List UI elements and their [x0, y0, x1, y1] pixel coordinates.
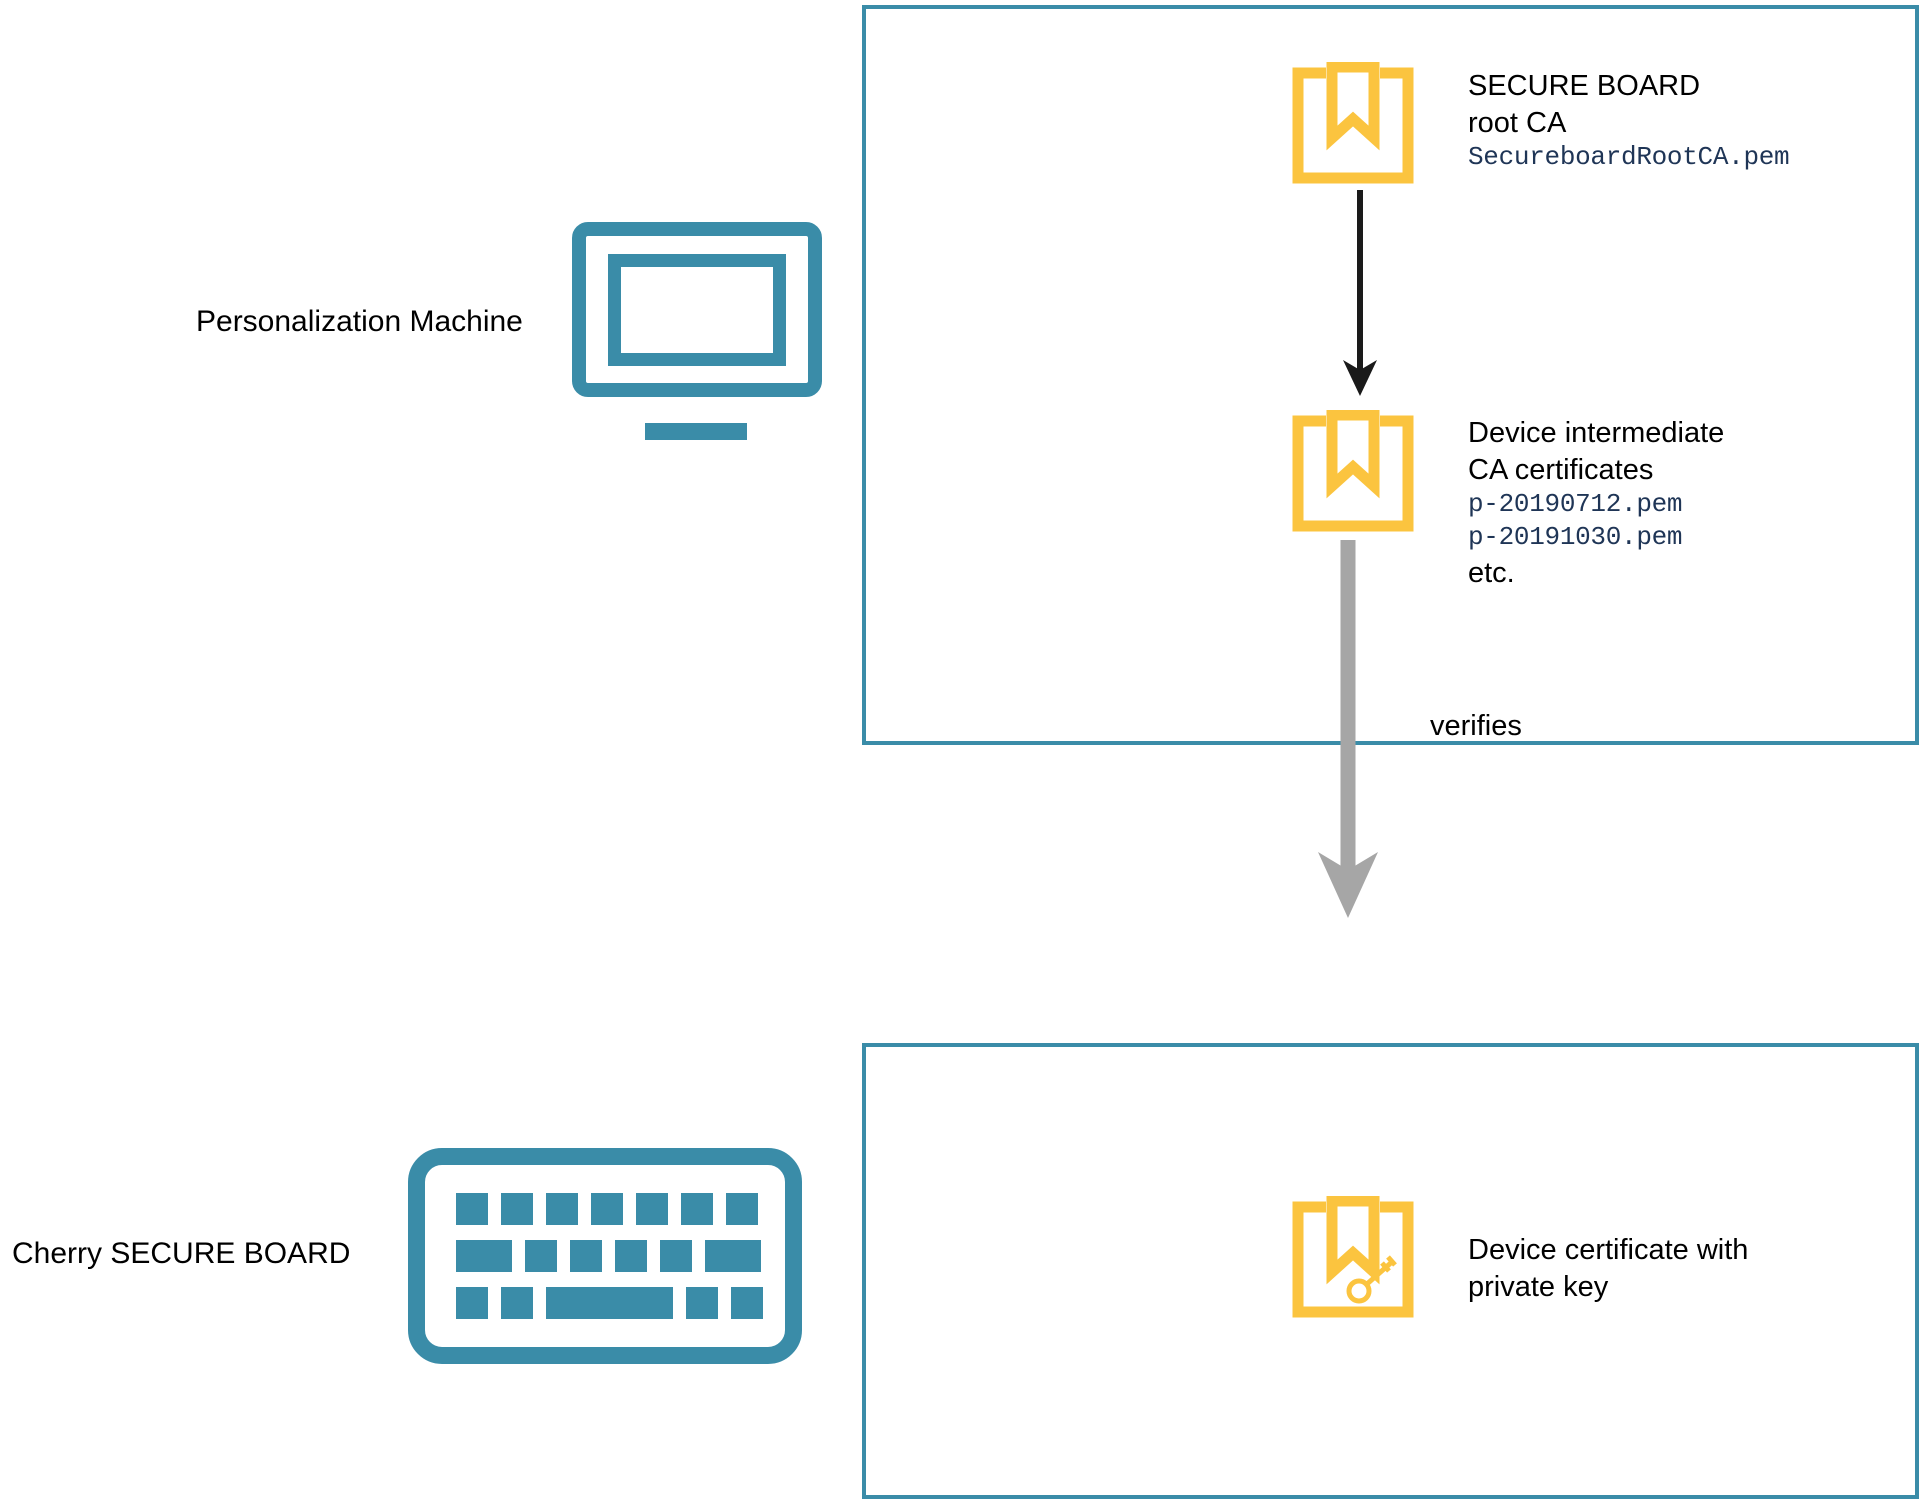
certificate-key-icon	[1292, 1196, 1414, 1318]
certificate-filename: SecureboardRootCA.pem	[1468, 141, 1789, 174]
keyboard-key	[570, 1240, 602, 1272]
verifies-label: verifies	[1430, 710, 1522, 743]
keyboard-key-wide	[705, 1240, 761, 1272]
keyboard-key	[615, 1240, 647, 1272]
certificate-filename: p-20191030.pem	[1468, 521, 1724, 554]
keyboard-row-2	[456, 1240, 761, 1272]
certificate-filename: p-20190712.pem	[1468, 488, 1724, 521]
certificate-icon	[1292, 62, 1414, 184]
keyboard-key	[636, 1193, 668, 1225]
keyboard-key	[686, 1287, 718, 1319]
keyboard-key	[456, 1193, 488, 1225]
keyboard-spacebar	[546, 1287, 673, 1319]
verifies-arrow	[1312, 540, 1408, 922]
monitor-icon	[572, 222, 822, 452]
certificate-text-root: SECURE BOARD root CA SecureboardRootCA.p…	[1468, 68, 1789, 174]
keyboard-key-wide	[456, 1240, 512, 1272]
keyboard-key	[660, 1240, 692, 1272]
keyboard-icon	[408, 1148, 802, 1364]
monitor-stand	[645, 423, 747, 440]
keyboard-key	[501, 1287, 533, 1319]
label-cherry-secure-board: Cherry SECURE BOARD	[12, 1235, 350, 1273]
certificate-title: Device certificate with private key	[1468, 1232, 1748, 1305]
keyboard-key	[546, 1193, 578, 1225]
certificate-text-device: Device certificate with private key	[1468, 1232, 1748, 1305]
keyboard-key	[726, 1193, 758, 1225]
keyboard-key	[501, 1193, 533, 1225]
certificate-text-intermediate: Device intermediate CA certificates p-20…	[1468, 415, 1724, 591]
certificate-title: Device intermediate CA certificates	[1468, 415, 1724, 488]
keyboard-row-3	[456, 1287, 763, 1319]
label-personalization-machine: Personalization Machine	[196, 303, 523, 341]
keyboard-key	[456, 1287, 488, 1319]
keyboard-row-1	[456, 1193, 758, 1225]
certificate-more-label: etc.	[1468, 555, 1724, 592]
keyboard-key	[681, 1193, 713, 1225]
keyboard-key	[525, 1240, 557, 1272]
diagram-canvas: Personalization Machine Cherry SECURE BO…	[0, 0, 1924, 1504]
keyboard-key	[591, 1193, 623, 1225]
monitor-screen	[608, 254, 786, 366]
keyboard-key	[731, 1287, 763, 1319]
signs-arrow	[1330, 190, 1390, 402]
certificate-title: SECURE BOARD root CA	[1468, 68, 1789, 141]
certificate-icon	[1292, 410, 1414, 532]
